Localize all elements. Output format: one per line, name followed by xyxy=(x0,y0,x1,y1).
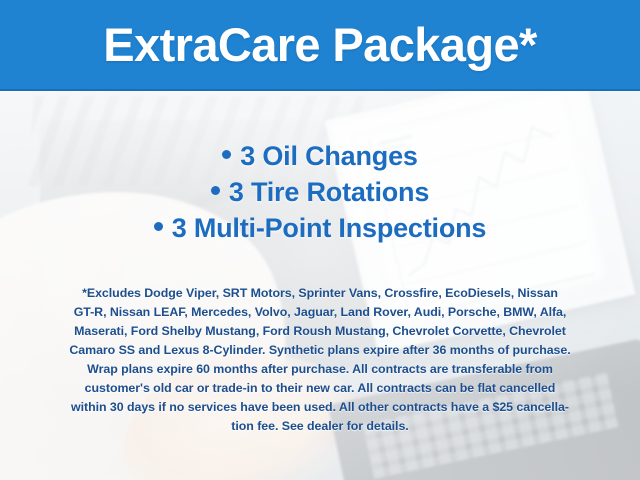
disclaimer-line: within 30 days if no services have been … xyxy=(28,398,612,417)
benefit-item-tire-rotations: 3 Tire Rotations xyxy=(0,174,640,210)
extracare-package-ad: ExtraCare Package* 3 Oil Changes 3 Tire … xyxy=(0,0,640,480)
disclaimer-line: Maserati, Ford Shelby Mustang, Ford Rous… xyxy=(28,322,612,341)
disclaimer-line: Wrap plans expire 60 months after purcha… xyxy=(28,360,612,379)
disclaimer-line: *Excludes Dodge Viper, SRT Motors, Sprin… xyxy=(28,284,612,303)
benefit-label: 3 Oil Changes xyxy=(240,141,417,171)
header-banner: ExtraCare Package* xyxy=(0,0,640,91)
benefit-item-multi-point-inspections: 3 Multi-Point Inspections xyxy=(0,210,640,246)
bullet-dot-icon xyxy=(154,222,163,231)
disclaimer-line: tion fee. See dealer for details. xyxy=(28,417,612,436)
disclaimer-line: customer's old car or trade-in to their … xyxy=(28,379,612,398)
page-title: ExtraCare Package* xyxy=(103,21,536,68)
disclaimer-line: GT-R, Nissan LEAF, Mercedes, Volvo, Jagu… xyxy=(28,303,612,322)
bullet-dot-icon xyxy=(211,186,220,195)
benefits-list: 3 Oil Changes 3 Tire Rotations 3 Multi-P… xyxy=(0,138,640,246)
disclaimer-text: *Excludes Dodge Viper, SRT Motors, Sprin… xyxy=(28,284,612,436)
benefit-label: 3 Multi-Point Inspections xyxy=(172,213,487,243)
benefit-label: 3 Tire Rotations xyxy=(229,177,429,207)
disclaimer-line: Camaro SS and Lexus 8-Cylinder. Syntheti… xyxy=(28,341,612,360)
bullet-dot-icon xyxy=(222,150,231,159)
benefit-item-oil-changes: 3 Oil Changes xyxy=(0,138,640,174)
